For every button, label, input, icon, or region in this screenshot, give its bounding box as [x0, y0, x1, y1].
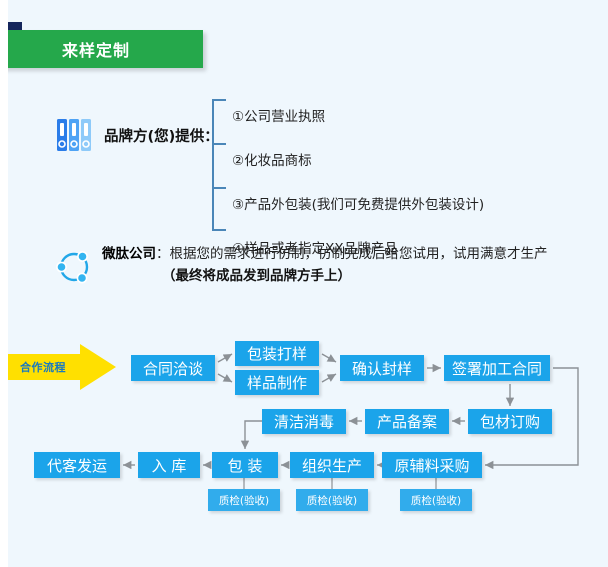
- infographic-canvas: 来样定制 品牌方(您)提供： ①公司营业执照: [0, 0, 608, 567]
- flow-node-product-record: 产品备案: [365, 409, 449, 434]
- flow-node-material-order: 包材订购: [468, 409, 552, 434]
- flow-node-sample-making: 样品制作: [235, 370, 319, 395]
- flow-node-confirm-seal: 确认封样: [340, 355, 424, 381]
- flow-node-qc-packaging: 质检(验收): [208, 489, 280, 511]
- flow-node-packaging: 包 装: [212, 452, 278, 478]
- flow-node-contract-talk: 合同洽谈: [131, 355, 215, 381]
- flow-node-organize-prod: 组织生产: [290, 452, 374, 478]
- flow-node-sign-contract: 签署加工合同: [444, 355, 550, 381]
- flow-node-agent-shipping: 代客发运: [34, 452, 120, 478]
- process-flowchart: 合同洽谈包装打样样品制作确认封样签署加工合同包材订购产品备案清洁消毒原辅料采购组…: [0, 0, 608, 567]
- flow-node-warehouse: 入 库: [138, 452, 200, 478]
- flow-node-qc-raw-material: 质检(验收): [400, 489, 472, 511]
- left-white-margin: [0, 0, 8, 567]
- flow-node-clean-disinfect: 清洁消毒: [262, 409, 346, 434]
- flow-node-package-proof: 包装打样: [235, 341, 319, 366]
- flow-node-raw-purchase: 原辅料采购: [382, 452, 482, 478]
- flow-node-qc-production: 质检(验收): [296, 489, 368, 511]
